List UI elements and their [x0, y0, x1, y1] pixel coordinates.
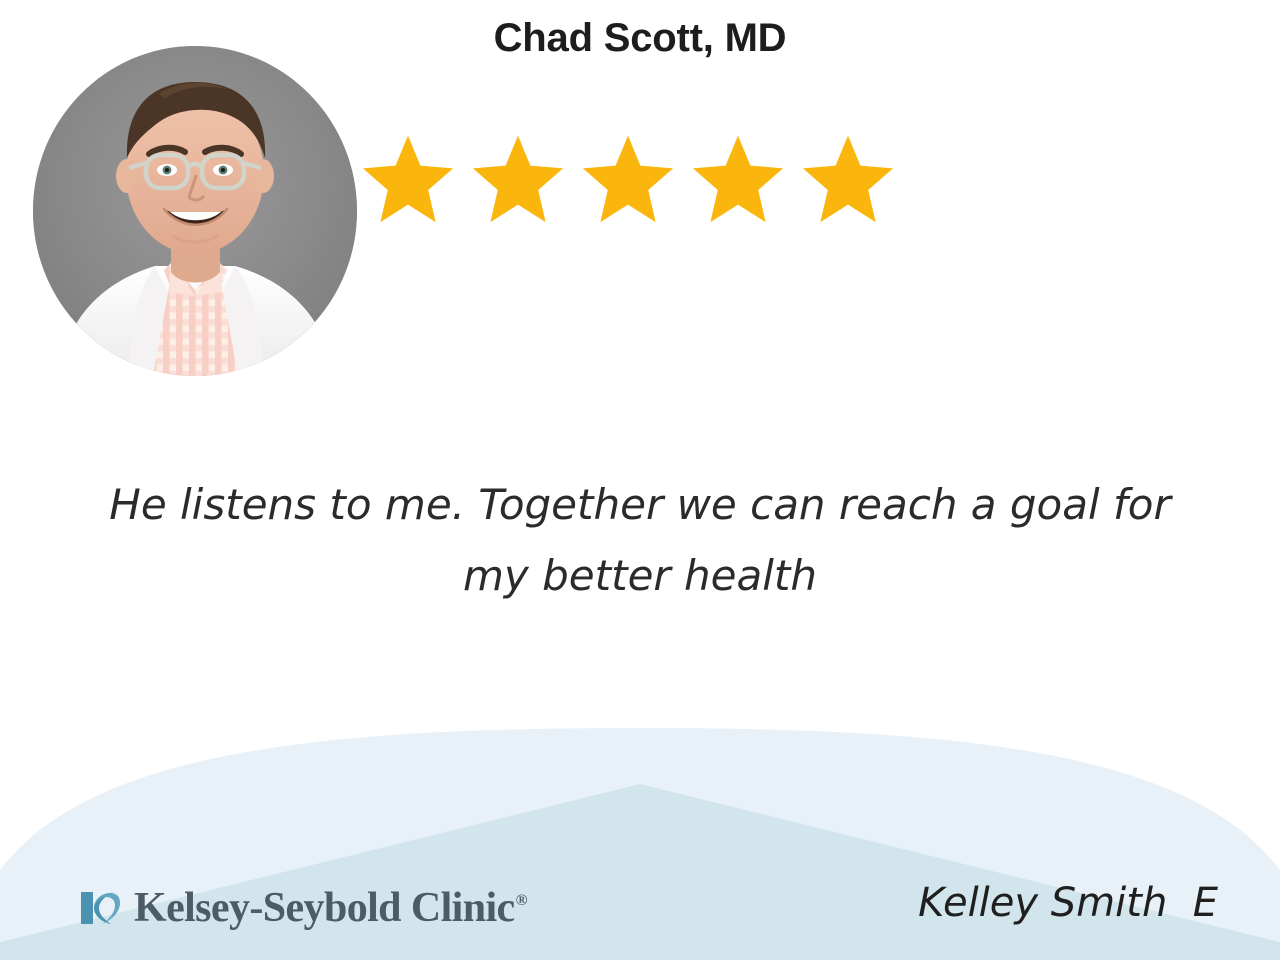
star-2-icon: [472, 132, 564, 224]
clinic-logo-text: Kelsey-Seybold Clinic®: [134, 884, 527, 932]
star-1-icon: [362, 132, 454, 224]
doctor-headshot-avatar: [33, 46, 357, 376]
registered-trademark-mark: ®: [516, 892, 527, 909]
reviewer-name: Kelley Smith E: [918, 880, 1218, 926]
review-quote-text: He listens to me. Together we can reach …: [90, 470, 1190, 611]
star-5-icon: [802, 132, 894, 224]
star-3-icon: [582, 132, 674, 224]
clinic-logo-wordmark: Kelsey-Seybold Clinic: [134, 885, 515, 931]
clinic-logo: Kelsey-Seybold Clinic®: [78, 882, 527, 934]
review-card: Chad Scott, MD He listens to me. Togethe…: [0, 0, 1280, 960]
star-4-icon: [692, 132, 784, 224]
doctor-name: Chad Scott, MD: [360, 16, 920, 60]
star-rating: [362, 130, 918, 226]
kelsey-seybold-k-mark-icon: [78, 886, 122, 930]
